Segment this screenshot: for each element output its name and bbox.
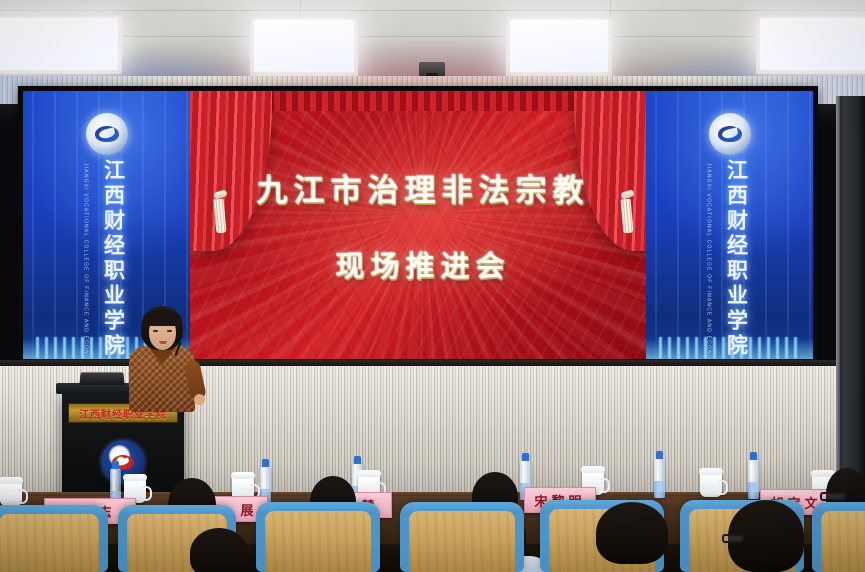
ceiling bbox=[0, 0, 865, 78]
ceiling-light-4 bbox=[760, 18, 865, 70]
audience-chair bbox=[400, 502, 524, 572]
ceiling-light-1 bbox=[0, 18, 118, 70]
conference-hall-photo: JIANGXI VOCATIONAL COLLEGE OF FINANCE AN… bbox=[0, 0, 865, 572]
side-doorway bbox=[836, 96, 865, 506]
eyeglasses-icon bbox=[820, 492, 846, 501]
podium-laptop bbox=[79, 372, 124, 385]
audience-chair bbox=[0, 505, 108, 572]
school-name-right: 江西财经职业学院 bbox=[713, 159, 747, 359]
school-english-name-left: JIANGXI VOCATIONAL COLLEGE OF FINANCE AN… bbox=[83, 163, 89, 359]
school-english-name-right: JIANGXI VOCATIONAL COLLEGE OF FINANCE AN… bbox=[706, 163, 712, 359]
audience-chair bbox=[812, 502, 865, 572]
audience-head bbox=[190, 528, 248, 572]
ceiling-light-2 bbox=[254, 20, 354, 72]
ceiling-light-3 bbox=[510, 20, 608, 72]
banner-title-line-1: 九江市治理非法宗教 bbox=[190, 175, 656, 208]
tea-mug bbox=[700, 472, 722, 497]
tea-mug bbox=[0, 481, 22, 506]
school-emblem-icon-left bbox=[86, 113, 128, 155]
screen-right-panel: JIANGXI VOCATIONAL COLLEGE OF FINANCE AN… bbox=[646, 91, 813, 359]
speaker-at-podium bbox=[125, 306, 199, 412]
water-bottle bbox=[654, 458, 665, 498]
screen-center-banner: 九江市治理非法宗教 现场推进会 bbox=[190, 91, 656, 359]
audience-head bbox=[596, 502, 668, 564]
banner-title-line-2: 现场推进会 bbox=[190, 243, 656, 285]
eyeglasses-icon bbox=[722, 534, 744, 543]
audience-chair bbox=[256, 502, 380, 572]
school-emblem-icon-right bbox=[709, 113, 751, 155]
school-name-left: 江西财经职业学院 bbox=[90, 159, 124, 359]
water-bottle bbox=[748, 459, 759, 499]
